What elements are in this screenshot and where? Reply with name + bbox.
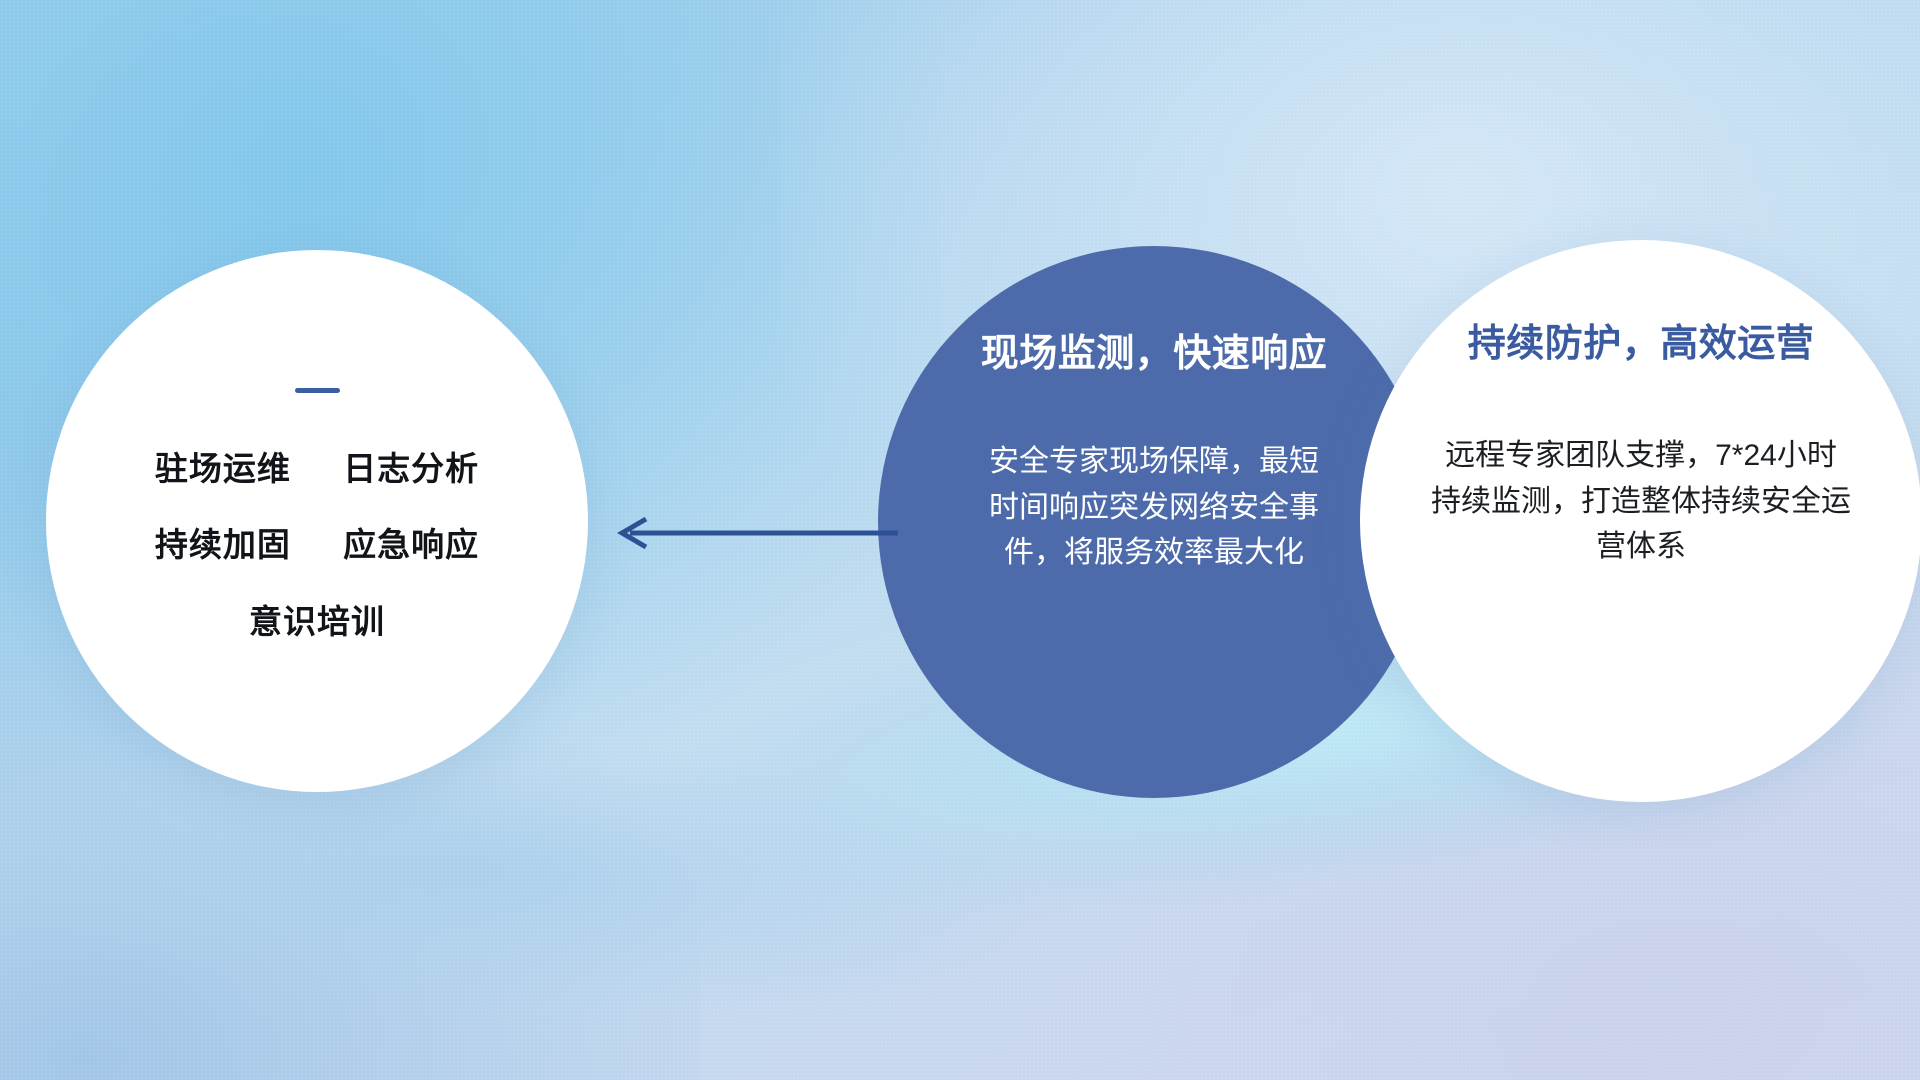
continuous-protection-body: 远程专家团队支撑，7*24小时持续监测，打造整体持续安全运营体系 xyxy=(1431,433,1851,570)
onsite-monitoring-body: 安全专家现场保障，最短时间响应突发网络安全事件，将服务效率最大化 xyxy=(989,439,1319,576)
capability-label-emergency-response: 应急响应 xyxy=(343,526,479,563)
continuous-protection-circle: 持续防护，高效运营 远程专家团队支撑，7*24小时持续监测，打造整体持续安全运营… xyxy=(1360,240,1920,802)
flow-arrow-icon xyxy=(600,515,900,551)
capability-row-2: 持续加固 应急响应 xyxy=(155,527,479,563)
capability-label-continuous-hardening: 持续加固 xyxy=(155,526,291,563)
capability-row-3: 意识培训 xyxy=(249,604,385,640)
capability-label-onsite-ops: 驻场运维 xyxy=(155,450,291,487)
continuous-protection-title: 持续防护，高效运营 xyxy=(1468,312,1815,367)
divider-dash xyxy=(295,388,340,393)
capability-label-log-analysis: 日志分析 xyxy=(343,450,479,487)
capability-row-1: 驻场运维 日志分析 xyxy=(155,451,479,487)
capability-label-awareness-training: 意识培训 xyxy=(249,603,385,640)
onsite-monitoring-circle: 现场监测，快速响应 安全专家现场保障，最短时间响应突发网络安全事件，将服务效率最… xyxy=(878,246,1430,798)
capabilities-circle: 驻场运维 日志分析 持续加固 应急响应 意识培训 xyxy=(46,250,588,792)
onsite-monitoring-title: 现场监测，快速响应 xyxy=(981,322,1328,377)
